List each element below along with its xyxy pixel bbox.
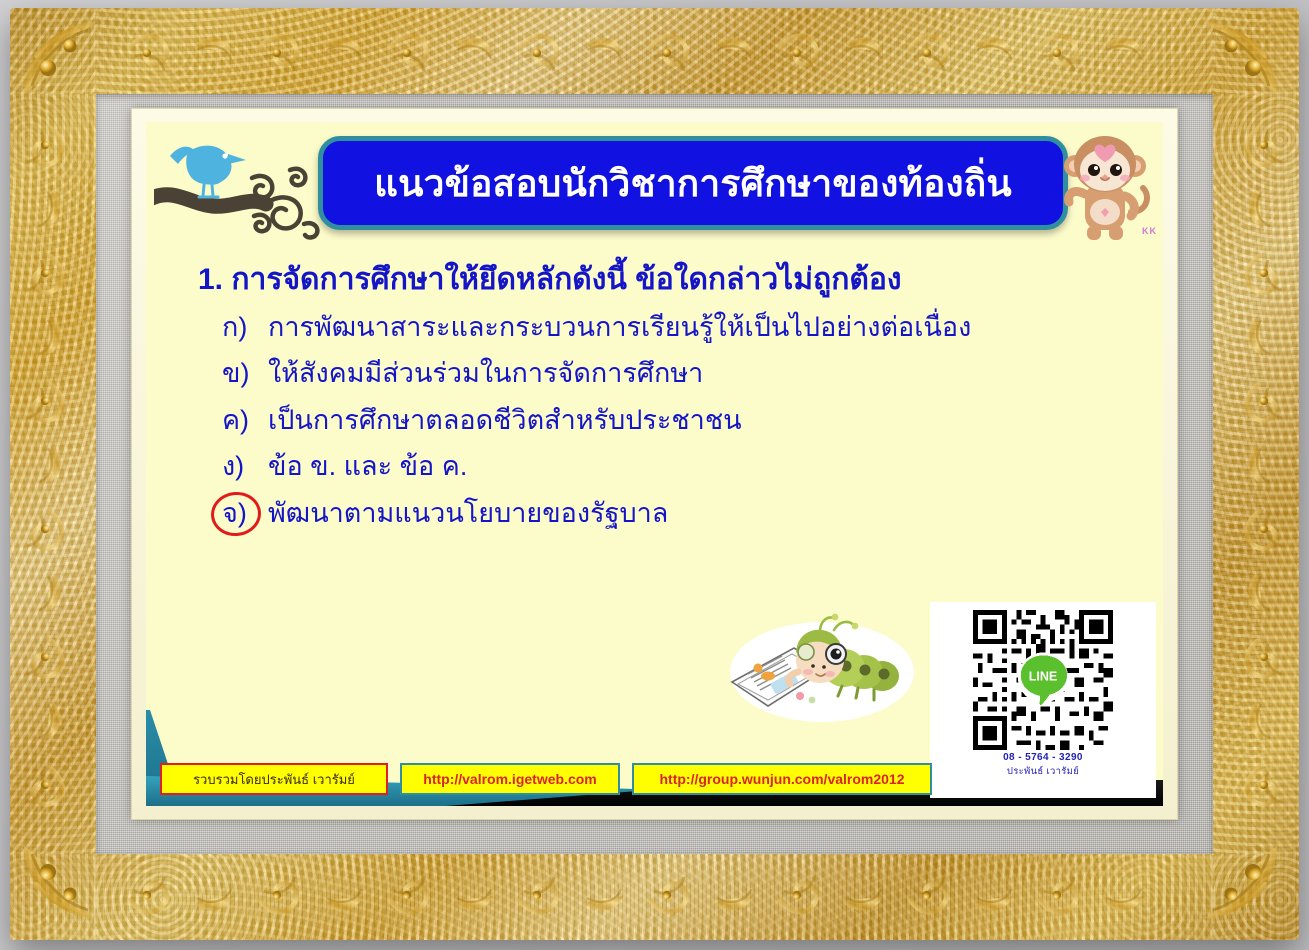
choice-label: ข) — [222, 356, 268, 392]
line-brand-label: LINE — [1029, 669, 1058, 683]
website-link-2[interactable]: http://group.wunjun.com/valrom2012 — [632, 763, 932, 795]
choice-text: ข้อ ข. และ ข้อ ค. — [268, 449, 467, 485]
slide-header: แนวข้อสอบนักวิชาการศึกษาของท้องถิ่น — [146, 122, 1163, 248]
choice-ka[interactable]: ก) การพัฒนาสาระและกระบวนการเรียนรู้ให้เป… — [146, 310, 1163, 346]
choice-ngo[interactable]: ง) ข้อ ข. และ ข้อ ค. — [146, 449, 1163, 485]
choice-label: ค) — [222, 403, 268, 439]
question-stem: 1. การจัดการศึกษาให้ยึดหลักดังนี้ ข้อใดก… — [146, 262, 1163, 299]
slide-title: แนวข้อสอบนักวิชาการศึกษาของท้องถิ่น — [374, 165, 1012, 202]
credit-banner: รวบรวมโดยประพันธ์ เวารัมย์ — [160, 763, 388, 795]
choice-kho2[interactable]: ค) เป็นการศึกษาตลอดชีวิตสำหรับประชาชน — [146, 403, 1163, 439]
choice-label-circled: จ) — [222, 496, 268, 532]
choice-label: ง) — [222, 449, 268, 485]
caterpillar-reading-icon — [724, 610, 919, 726]
presentation-slide: แนวข้อสอบนักวิชาการศึกษาของท้องถิ่น — [146, 122, 1163, 806]
choice-text: ให้สังคมมีส่วนร่วมในการจัดการศึกษา — [268, 356, 703, 392]
choice-text: การพัฒนาสาระและกระบวนการเรียนรู้ให้เป็นไ… — [268, 310, 971, 346]
website-link-1[interactable]: http://valrom.igetweb.com — [400, 763, 620, 795]
choice-cho-selected[interactable]: จ) พัฒนาตามแนวนโยบายของรัฐบาล — [146, 496, 1163, 532]
question-block: 1. การจัดการศึกษาให้ยึดหลักดังนี้ ข้อใดก… — [146, 262, 1163, 532]
choice-text: พัฒนาตามแนวนโยบายของรัฐบาล — [268, 496, 668, 532]
monkey-signature: KK — [1142, 226, 1157, 236]
slide-title-box: แนวข้อสอบนักวิชาการศึกษาของท้องถิ่น — [318, 136, 1068, 230]
choice-text: เป็นการศึกษาตลอดชีวิตสำหรับประชาชน — [268, 403, 742, 439]
choice-label: ก) — [222, 310, 268, 346]
choice-kho[interactable]: ข) ให้สังคมมีส่วนร่วมในการจัดการศึกษา — [146, 356, 1163, 392]
qr-code-image: LINE — [964, 610, 1122, 750]
bird-on-branch-icon — [154, 130, 334, 248]
footer-banner-row: รวบรวมโดยประพันธ์ เวารัมย์ http://valrom… — [160, 762, 1150, 796]
